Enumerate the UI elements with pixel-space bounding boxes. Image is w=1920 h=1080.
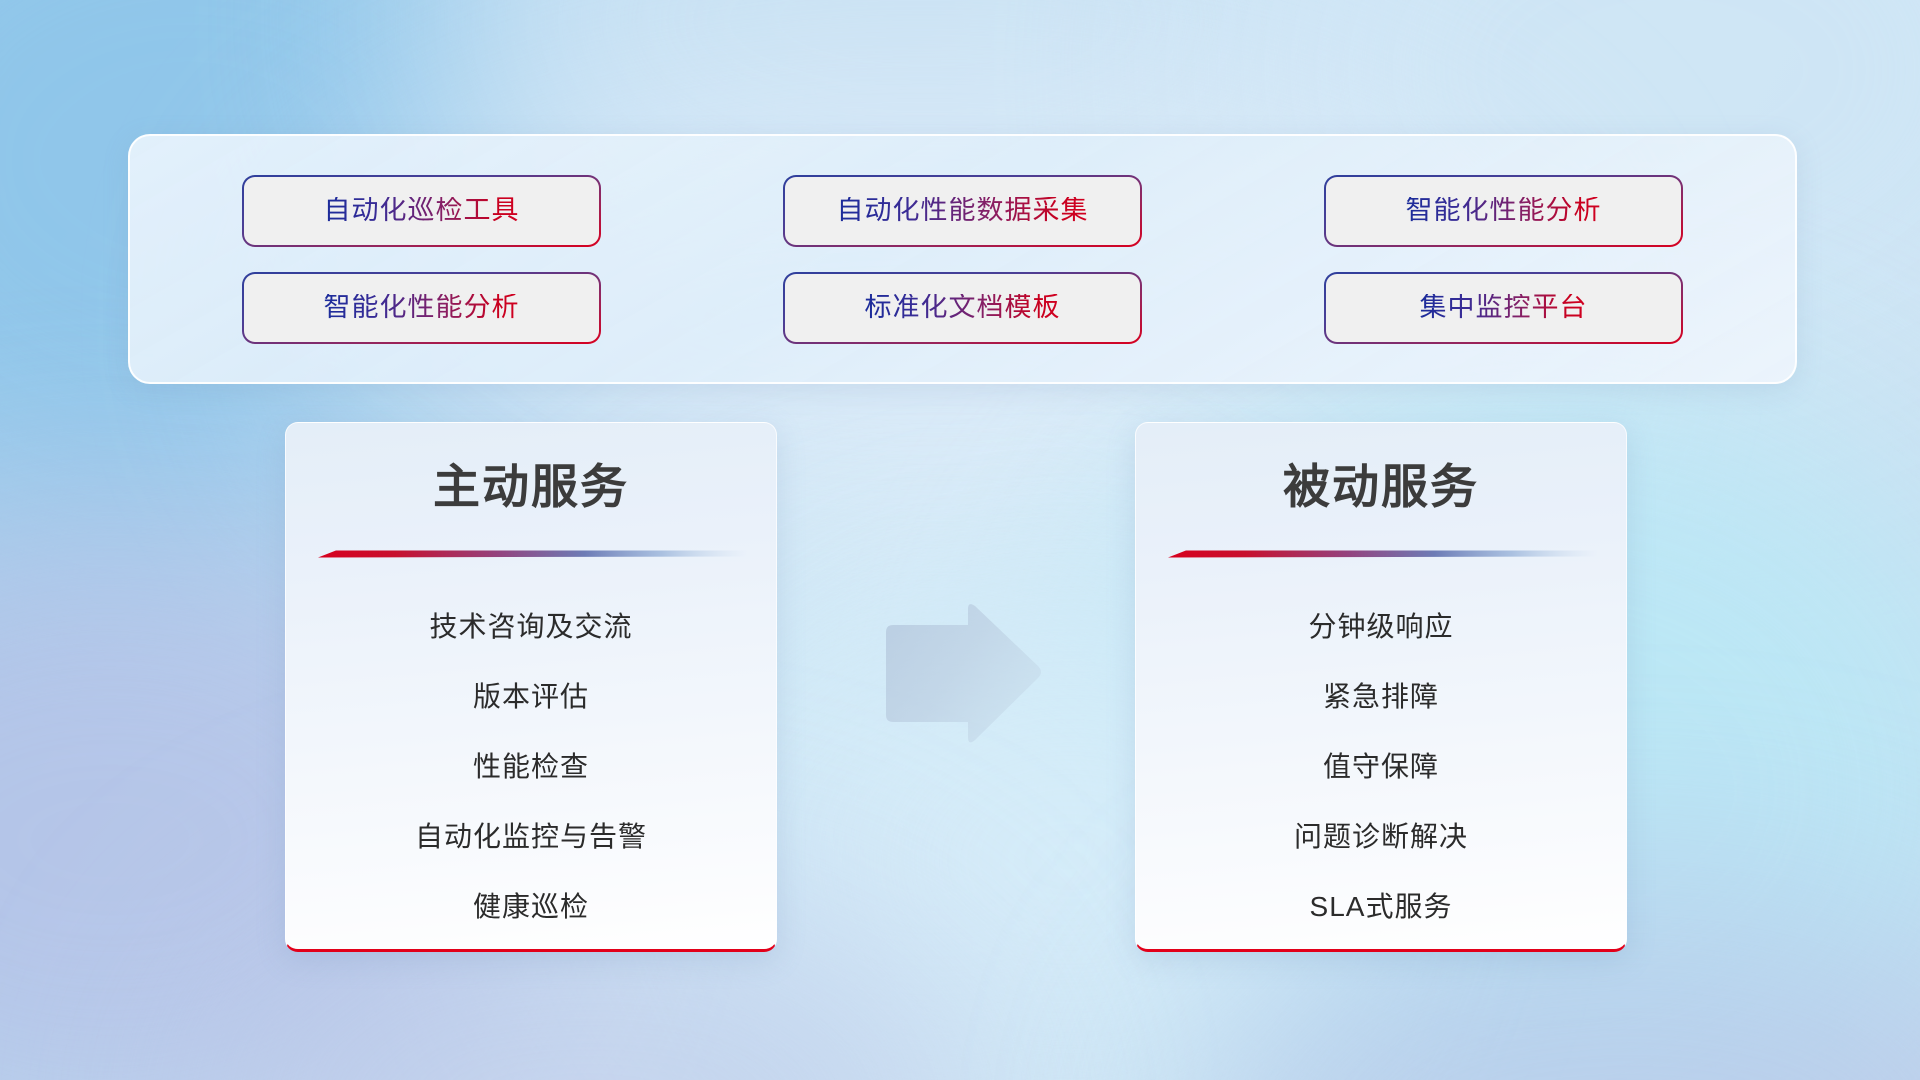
proactive-service-card: 主动服务 技术咨询及交流 版本评估 性能检查 自动化监控与告警 健康巡检 bbox=[285, 422, 777, 952]
capability-pill-automated-inspection-tool[interactable]: 自动化巡检工具 bbox=[244, 177, 599, 245]
list-item: 技术咨询及交流 bbox=[286, 592, 776, 662]
list-item: 性能检查 bbox=[286, 732, 776, 802]
capability-panel: 自动化巡检工具 自动化性能数据采集 智能化性能分析 智能化性能分析 标准化文档模… bbox=[128, 134, 1797, 384]
reactive-service-card: 被动服务 分钟级响应 紧急排障 值守保障 问题诊断解决 SLA式服务 bbox=[1135, 422, 1627, 952]
capability-pill-standard-doc-template[interactable]: 标准化文档模板 bbox=[785, 274, 1140, 342]
capability-pill-label: 智能化性能分析 bbox=[1406, 197, 1602, 224]
list-item: 版本评估 bbox=[286, 662, 776, 732]
list-item: 分钟级响应 bbox=[1136, 592, 1626, 662]
proactive-service-list: 技术咨询及交流 版本评估 性能检查 自动化监控与告警 健康巡检 bbox=[286, 558, 776, 942]
list-item: 健康巡检 bbox=[286, 872, 776, 942]
capability-pill-label: 自动化巡检工具 bbox=[324, 197, 520, 224]
list-item: 紧急排障 bbox=[1136, 662, 1626, 732]
capability-pill-label: 集中监控平台 bbox=[1420, 294, 1588, 321]
capability-pill-label: 标准化文档模板 bbox=[865, 294, 1061, 321]
capability-pill-label: 自动化性能数据采集 bbox=[837, 197, 1089, 224]
list-item: 自动化监控与告警 bbox=[286, 802, 776, 872]
proactive-service-title: 主动服务 bbox=[286, 423, 776, 510]
capability-pill-automated-performance-collection[interactable]: 自动化性能数据采集 bbox=[785, 177, 1140, 245]
right-arrow-icon bbox=[880, 600, 1045, 748]
list-item: SLA式服务 bbox=[1136, 872, 1626, 942]
capability-pill-central-monitoring-platform[interactable]: 集中监控平台 bbox=[1326, 274, 1681, 342]
capability-pill-intelligent-performance-analysis-2[interactable]: 智能化性能分析 bbox=[244, 274, 599, 342]
proactive-divider bbox=[318, 547, 748, 558]
capability-pill-label: 智能化性能分析 bbox=[324, 294, 520, 321]
reactive-service-list: 分钟级响应 紧急排障 值守保障 问题诊断解决 SLA式服务 bbox=[1136, 558, 1626, 942]
list-item: 问题诊断解决 bbox=[1136, 802, 1626, 872]
capability-pill-intelligent-performance-analysis[interactable]: 智能化性能分析 bbox=[1326, 177, 1681, 245]
capability-pill-grid: 自动化巡检工具 自动化性能数据采集 智能化性能分析 智能化性能分析 标准化文档模… bbox=[130, 136, 1795, 382]
reactive-divider bbox=[1168, 547, 1598, 558]
reactive-service-title: 被动服务 bbox=[1136, 423, 1626, 510]
list-item: 值守保障 bbox=[1136, 732, 1626, 802]
